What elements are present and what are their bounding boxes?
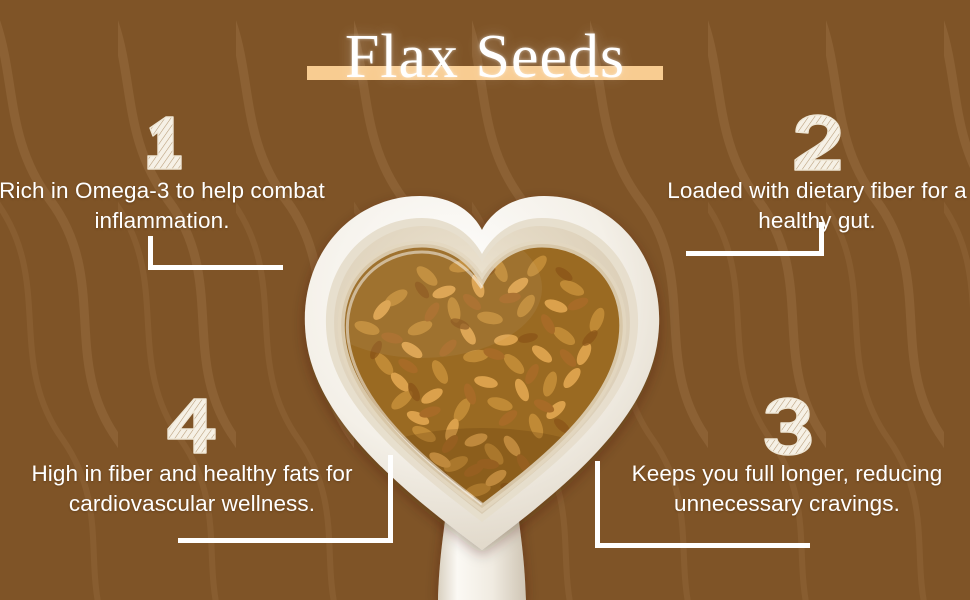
numeral-3-icon — [751, 395, 823, 457]
callout-1: Rich in Omega-3 to help combat inflammat… — [0, 112, 327, 236]
callout-1-bracket — [148, 236, 283, 270]
flax-seeds-infographic: Flax Seeds — [0, 0, 970, 600]
numeral-1-icon — [126, 112, 198, 174]
numeral-2-icon — [781, 112, 853, 174]
callout-4-bracket — [178, 455, 393, 543]
page-title: Flax Seeds — [0, 26, 970, 88]
callout-1-text: Rich in Omega-3 to help combat inflammat… — [0, 176, 327, 236]
callout-2: Loaded with dietary fiber for a healthy … — [652, 112, 970, 236]
title-text: Flax Seeds — [339, 26, 631, 88]
callout-2-bracket — [686, 222, 824, 256]
callout-3-bracket — [595, 461, 810, 548]
numeral-4-icon — [156, 395, 228, 457]
